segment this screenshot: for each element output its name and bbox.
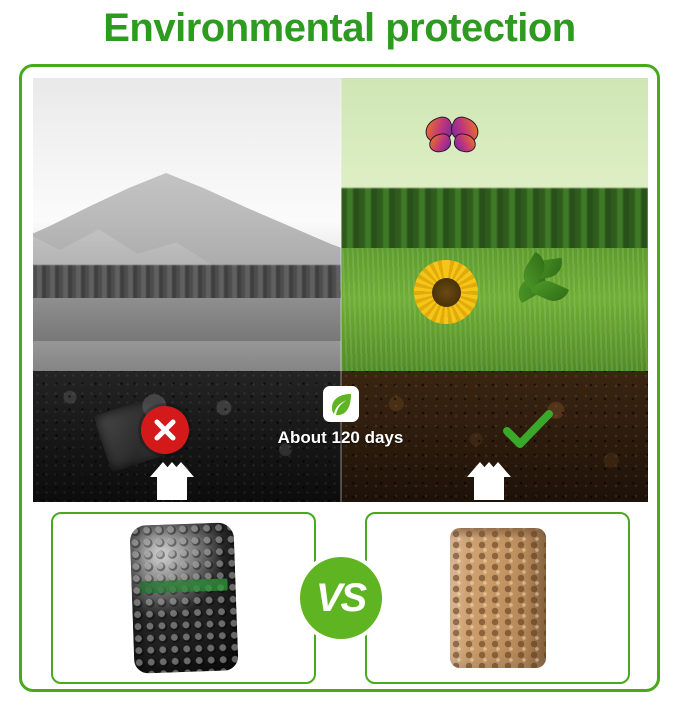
- grass-texture: [341, 248, 649, 375]
- degradation-days-label: About 120 days: [278, 428, 404, 448]
- vs-badge: VS: [300, 557, 382, 639]
- x-cross-icon: [141, 406, 189, 454]
- product-comparison-row: VS: [33, 512, 648, 684]
- sunflower-center: [432, 278, 461, 307]
- content-frame: About 120 days: [19, 64, 660, 692]
- leaf-badge-icon: [323, 386, 359, 422]
- degradation-callout: About 120 days: [246, 386, 436, 448]
- page-title: Environmental protection: [0, 6, 679, 51]
- bubble-wrap-bag-image: [129, 522, 238, 674]
- comparison-photo: About 120 days: [33, 78, 648, 502]
- product-card-bubble-wrap: [51, 512, 316, 684]
- product-infographic: Environmental protection: [0, 0, 679, 706]
- butterfly-icon: [424, 116, 480, 158]
- leaf-plant-icon: [513, 248, 571, 308]
- product-card-honeycomb-paper: [365, 512, 630, 684]
- honeycomb-paper-roll-image: [450, 528, 546, 668]
- check-mark-icon: [502, 409, 554, 451]
- sunflower-icon: [414, 260, 478, 324]
